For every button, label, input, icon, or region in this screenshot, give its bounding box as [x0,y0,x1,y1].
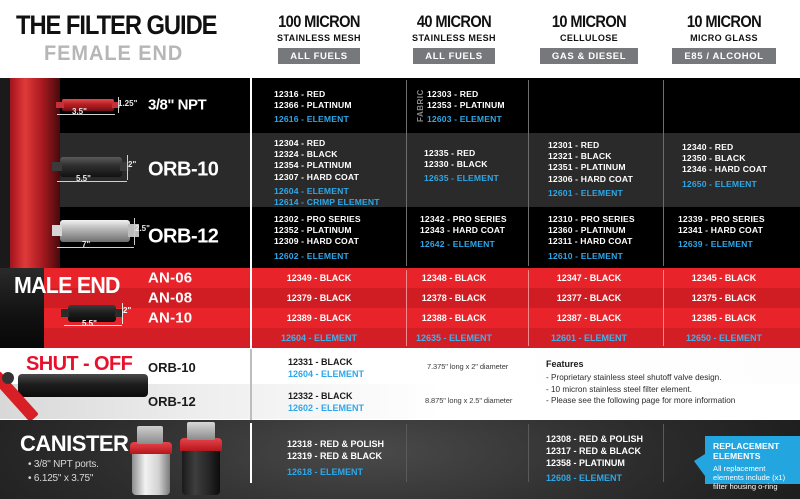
element-part-number: 12601 - ELEMENT [548,188,633,199]
features-list: - Proprietary stainless steel shutoff va… [546,372,735,407]
column-fuel-badge: E85 / ALCOHOL [672,48,775,64]
element-part-number: 12639 - ELEMENT [678,239,765,250]
part-list-cell: 12340 - RED 12350 - BLACK 12346 - HARD C… [682,142,767,190]
row-label-an06: AN-06 [148,270,192,287]
part-number: 12388 - BLACK [387,313,521,323]
column-divider [250,423,252,483]
part-number: 12319 - RED & BLACK [287,450,384,462]
column-divider [663,424,664,482]
part-number: 12377 - BLACK [522,293,656,303]
part-number: 12353 - PLATINUM [427,100,505,111]
dimension-line-length [57,247,134,248]
dimension-diameter-label: 2" [123,306,131,315]
part-list-cell: 12318 - RED & POLISH 12319 - RED & BLACK… [287,438,384,478]
dimension-length-label: 3.5" [72,107,87,116]
callout-title: REPLACEMENT ELEMENTS [713,441,794,461]
canister-bracket [187,422,215,440]
column-divider [250,78,252,268]
part-number: 12346 - HARD COAT [682,164,767,175]
photo-edge-shadow [0,78,10,268]
column-divider [663,80,664,266]
product-fitting-left [52,162,62,171]
part-list-cell: 12331 - BLACK 12604 - ELEMENT [288,357,364,380]
part-number: 12387 - BLACK [522,313,656,323]
page-title: THE FILTER GUIDE [16,10,216,41]
product-photo-npt-filter [62,99,114,111]
part-number: 12303 - RED [427,89,505,100]
column-header-10-micron-micro-glass: 10 MICRON MICRO GLASS E85 / ALCOHOL [657,12,791,64]
product-fitting-left [56,102,64,108]
feature-item: - 10 micron stainless steel filter eleme… [546,384,735,396]
product-photo-canister-black [182,448,220,495]
features-heading: Features [546,359,584,369]
element-part-number: 12614 - CRIMP ELEMENT [274,197,380,208]
part-list-cell: 12332 - BLACK 12602 - ELEMENT [288,391,364,414]
filter-guide-page: THE FILTER GUIDE FEMALE END 100 MICRON S… [0,0,800,499]
column-divider [528,80,529,266]
part-list-cell: 12301 - RED 12321 - BLACK 12351 - PLATIN… [548,140,633,199]
row-label-npt: 3/8" NPT [148,97,206,114]
canister-bullet: • 3/8" NPT ports. [28,459,99,470]
column-micron-label: 100 MICRON [261,12,376,32]
part-list-cell: 12303 - RED 12353 - PLATINUM 12603 - ELE… [427,89,505,126]
part-list-cell: 12302 - PRO SERIES 12352 - PLATINUM 1230… [274,214,361,262]
element-part-number: 12616 - ELEMENT [274,114,352,125]
part-number: 12311 - HARD COAT [548,236,635,247]
dimension-length-label: 5.5" [82,319,97,328]
part-number: 12304 - RED [274,138,380,149]
dimension-diameter-label: 2" [128,160,136,169]
row-label-an10: AN-10 [148,310,192,327]
part-number: 12358 - PLATINUM [546,457,643,469]
part-list-cell: 12310 - PRO SERIES 12360 - PLATINUM 1231… [548,214,635,262]
part-number: 12389 - BLACK [252,313,386,323]
shutoff-section: SHUT - OFF ORB-10 ORB-12 12331 - BLACK 1… [0,349,800,420]
part-number: 12310 - PRO SERIES [548,214,635,225]
part-number: 12306 - HARD COAT [548,174,633,185]
product-photo-orb12-filter [60,220,130,242]
product-fitting-left [61,309,69,317]
element-part-number: 12602 - ELEMENT [274,251,361,262]
element-part-number: 12635 - ELEMENT [387,333,521,343]
part-number: 12331 - BLACK [288,357,364,369]
part-number: 12345 - BLACK [657,273,791,283]
part-number: 12366 - PLATINUM [274,100,352,111]
part-list-cell: 12304 - RED 12324 - BLACK 12354 - PLATIN… [274,138,380,208]
part-number: 12350 - BLACK [682,153,767,164]
element-part-number: 12604 - ELEMENT [274,186,380,197]
part-number: 12349 - BLACK [252,273,386,283]
part-number: 12308 - RED & POLISH [546,433,643,445]
part-number: 12351 - PLATINUM [548,162,633,173]
part-number: 12343 - HARD COAT [420,225,507,236]
part-number: 12335 - RED [424,148,499,159]
column-divider [406,80,407,266]
fabric-note-label: FABRIC [416,89,425,122]
male-end-section: MALE END 5.5" 2" AN-06 AN-08 AN-10 12349… [0,268,800,348]
part-number: 12360 - PLATINUM [548,225,635,236]
part-number: 12354 - PLATINUM [274,160,380,171]
part-number: 12302 - PRO SERIES [274,214,361,225]
part-number: 12330 - BLACK [424,159,499,170]
column-fuel-badge: ALL FUELS [278,48,359,64]
column-header-10-micron-cellulose: 10 MICRON CELLULOSE GAS & DIESEL [522,12,656,64]
part-list-cell: 12316 - RED 12366 - PLATINUM 12616 - ELE… [274,89,352,126]
callout-body: All replacement elements include (x1) fi… [713,464,794,492]
row-label-orb10: ORB-10 [148,360,196,375]
part-number: 12342 - PRO SERIES [420,214,507,225]
feature-item: - Please see the following page for more… [546,395,735,407]
part-number: 12309 - HARD COAT [274,236,361,247]
part-number: 12307 - HARD COAT [274,172,380,183]
female-end-section: 3.5" 1.25" 5.5" 2" 7" 2.5" 3/8" NPT ORB-… [0,78,800,268]
column-micron-label: 40 MICRON [396,12,511,32]
product-photo-canister-polish [132,450,170,495]
column-header-40-micron: 40 MICRON STAINLESS MESH ALL FUELS [387,12,521,64]
section-title-canister: CANISTER [20,431,128,457]
element-part-number: 12601 - ELEMENT [522,333,656,343]
section-subtitle-female-end: FEMALE END [44,42,183,66]
part-number: 12385 - BLACK [657,313,791,323]
row-label-orb12: ORB-12 [148,226,218,249]
element-part-number: 12604 - ELEMENT [252,333,386,343]
dimension-line-length [57,181,127,182]
column-micron-label: 10 MICRON [666,12,781,32]
part-list-cell: 12308 - RED & POLISH 12317 - RED & BLACK… [546,433,643,484]
element-part-number: 12650 - ELEMENT [682,179,767,190]
bullet-text: 3/8" NPT ports. [34,459,99,470]
part-number: 12347 - BLACK [522,273,656,283]
feature-item: - Proprietary stainless steel shutoff va… [546,372,735,384]
product-lever-pivot [2,372,14,384]
element-part-number: 12603 - ELEMENT [427,114,505,125]
element-part-number: 12635 - ELEMENT [424,173,499,184]
canister-section: CANISTER • 3/8" NPT ports. • 6.125" x 3.… [0,420,800,499]
part-number: 12379 - BLACK [252,293,386,303]
part-number: 12332 - BLACK [288,391,364,403]
part-number: 12348 - BLACK [387,273,521,283]
column-media-label: STAINLESS MESH [390,33,517,44]
header: THE FILTER GUIDE FEMALE END 100 MICRON S… [0,0,800,78]
column-divider [406,424,407,482]
bullet-text: 6.125" x 3.75" [34,473,93,484]
part-number: 12352 - PLATINUM [274,225,361,236]
row-label-an08: AN-08 [148,290,192,307]
part-number: 12301 - RED [548,140,633,151]
part-number: 12339 - PRO SERIES [678,214,765,225]
column-header-100-micron: 100 MICRON STAINLESS MESH ALL FUELS [252,12,386,64]
dimension-text: 8.875" long x 2.5" diameter [425,396,512,405]
dimension-length-label: 5.5" [76,174,91,183]
row-label-orb10: ORB-10 [148,159,218,182]
element-part-number: 12608 - ELEMENT [546,472,643,484]
part-number: 12321 - BLACK [548,151,633,162]
part-number: 12375 - BLACK [657,293,791,303]
part-number: 12316 - RED [274,89,352,100]
column-divider [250,349,252,420]
dimension-text: 7.375" long x 2" diameter [427,362,508,371]
part-number: 12318 - RED & POLISH [287,438,384,450]
part-number: 12340 - RED [682,142,767,153]
element-part-number: 12650 - ELEMENT [657,333,791,343]
part-number: 12324 - BLACK [274,149,380,160]
column-micron-label: 10 MICRON [531,12,646,32]
product-photo-orb10-filter [60,157,122,177]
part-list-cell: 12339 - PRO SERIES 12341 - HARD COAT 126… [678,214,765,251]
row-label-orb12: ORB-12 [148,394,196,409]
column-fuel-badge: ALL FUELS [413,48,494,64]
column-media-label: STAINLESS MESH [255,33,382,44]
column-media-label: MICRO GLASS [660,33,787,44]
part-list-cell: 12342 - PRO SERIES 12343 - HARD COAT 126… [420,214,507,251]
section-title-shutoff: SHUT - OFF [26,353,132,376]
product-fitting-left [52,225,62,236]
element-part-number: 12642 - ELEMENT [420,239,507,250]
column-fuel-badge: GAS & DIESEL [540,48,638,64]
canister-bracket [137,426,163,444]
element-part-number: 12602 - ELEMENT [288,403,364,415]
dimension-length-label: 7" [82,240,90,249]
element-part-number: 12604 - ELEMENT [288,369,364,381]
column-divider [528,424,529,482]
part-number: 12317 - RED & BLACK [546,445,643,457]
column-media-label: CELLULOSE [525,33,652,44]
part-number: 12341 - HARD COAT [678,225,765,236]
part-number: 12378 - BLACK [387,293,521,303]
dimension-diameter-label: 1.25" [118,99,137,108]
part-list-cell: 12335 - RED 12330 - BLACK 12635 - ELEMEN… [424,148,499,185]
replacement-elements-callout: REPLACEMENT ELEMENTS All replacement ele… [705,436,800,484]
section-title-male-end: MALE END [14,272,120,299]
canister-bullet: • 6.125" x 3.75" [28,473,93,484]
element-part-number: 12618 - ELEMENT [287,466,384,478]
element-part-number: 12610 - ELEMENT [548,251,635,262]
product-photo-shutoff-valve [18,374,148,397]
